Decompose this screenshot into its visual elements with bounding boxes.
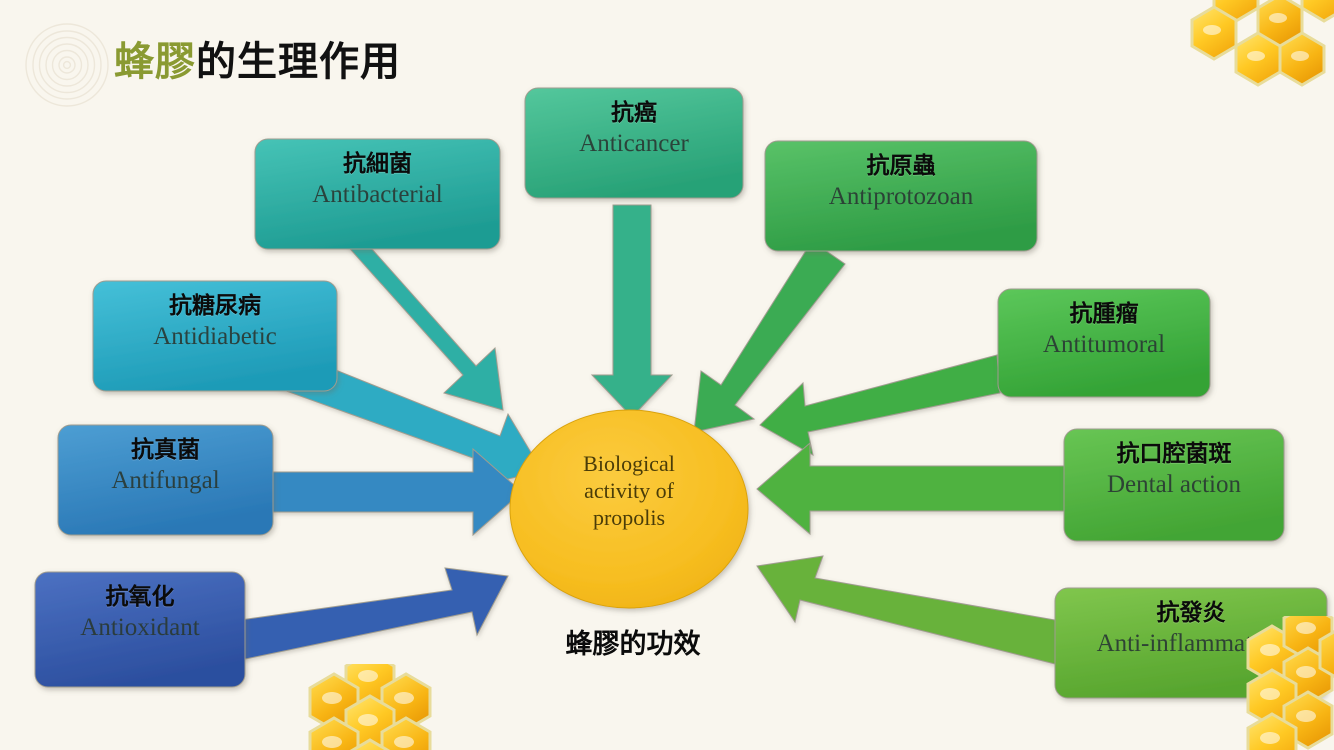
node-antitumoral[interactable]: 抗腫瘤 Antitumoral xyxy=(998,289,1210,397)
arrow-antioxidant xyxy=(226,568,508,663)
node-label-en: Antibacterial xyxy=(312,179,443,210)
center-caption: 蜂膠的功效 xyxy=(488,622,778,661)
node-label-zh: 抗細菌 xyxy=(343,149,412,179)
node-label-zh: 抗口腔菌斑 xyxy=(1117,439,1232,469)
center-ellipse xyxy=(510,410,748,608)
slide-canvas: 蜂膠的生理作用 xyxy=(0,0,1334,750)
node-anti-inflammatory[interactable]: 抗發炎 Anti-inflammatory xyxy=(1055,588,1327,698)
node-label-en: Anticancer xyxy=(579,128,689,159)
node-label-en: Dental action xyxy=(1107,469,1241,500)
node-label-zh: 抗真菌 xyxy=(131,435,200,465)
node-label-zh: 抗腫瘤 xyxy=(1070,299,1139,329)
node-label-zh: 抗發炎 xyxy=(1157,598,1226,628)
node-label-en: Antifungal xyxy=(111,465,219,496)
node-label-en: Antitumoral xyxy=(1043,329,1165,360)
node-label-zh: 抗原蟲 xyxy=(867,151,936,181)
node-label-en: Antidiabetic xyxy=(153,321,277,352)
node-label-en: Antioxidant xyxy=(80,612,199,643)
node-label-zh: 抗糖尿病 xyxy=(169,291,261,321)
arrow-antitumoral xyxy=(760,355,1000,455)
node-antibacterial[interactable]: 抗細菌 Antibacterial xyxy=(255,139,500,249)
node-label-en: Antiprotozoan xyxy=(829,181,973,212)
node-dental-action[interactable]: 抗口腔菌斑 Dental action xyxy=(1064,429,1284,541)
node-antifungal[interactable]: 抗真菌 Antifungal xyxy=(58,425,273,535)
arrow-anticancer xyxy=(592,205,672,417)
arrow-dental-action xyxy=(757,443,1064,534)
node-anticancer[interactable]: 抗癌 Anticancer xyxy=(525,88,743,198)
arrow-anti-inflammatory xyxy=(757,556,1055,664)
node-antiprotozoan[interactable]: 抗原蟲 Antiprotozoan xyxy=(765,141,1037,251)
node-label-zh: 抗癌 xyxy=(611,98,657,128)
arrow-antifungal xyxy=(258,449,522,535)
node-antidiabetic[interactable]: 抗糖尿病 Antidiabetic xyxy=(93,281,337,391)
node-label-en: Anti-inflammatory xyxy=(1097,628,1286,659)
node-label-zh: 抗氧化 xyxy=(106,582,175,612)
node-antioxidant[interactable]: 抗氧化 Antioxidant xyxy=(35,572,245,687)
